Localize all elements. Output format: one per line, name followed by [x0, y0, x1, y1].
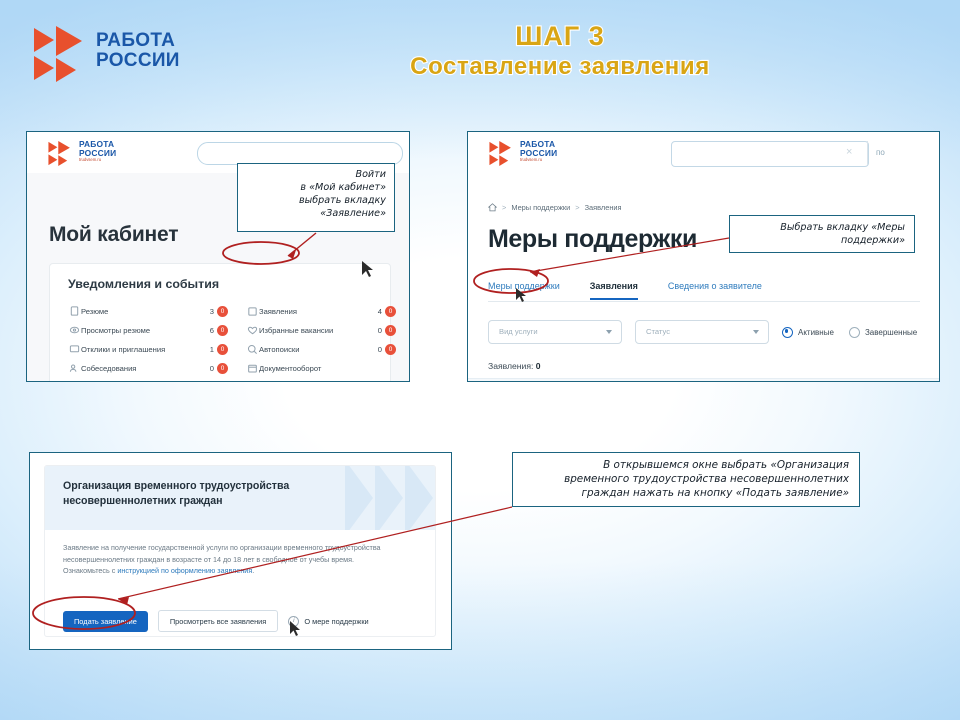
radio-active[interactable]: Активные [782, 327, 834, 338]
mini-brand-line-2: РОССИИ [79, 149, 116, 158]
rabota-rossii-triangles-icon [488, 141, 515, 166]
notification-right-label: Избранные вакансии [259, 326, 378, 335]
search-input[interactable] [197, 142, 403, 165]
radio-completed[interactable]: Завершенные [849, 327, 917, 338]
notifications-card: Уведомления и события Резюме30Просмотры … [49, 263, 391, 382]
slide-title: ШАГ 3 Составление заявления [280, 22, 840, 82]
screenshot-panel-service-card: Организация временного трудоустройства н… [29, 452, 452, 650]
callout1-line-0: Войти [244, 169, 386, 182]
notification-right-label: Документооборот [259, 364, 396, 373]
info-icon: i [288, 616, 299, 627]
mini-brand-logo: РАБОТА РОССИИ trudvsem.ru [47, 140, 157, 168]
callout1-line-3: «Заявление» [244, 208, 386, 221]
notification-right-count: 4 [378, 307, 382, 316]
notification-left-badge: 0 [217, 325, 228, 336]
radio-active-label: Активные [798, 328, 834, 337]
callout3-line-0: В открывшемся окне выбрать «Организация [522, 459, 849, 473]
notifications-left-column: Резюме30Просмотры резюме60Отклики и приг… [68, 302, 228, 378]
users-icon [68, 363, 81, 374]
notification-left-badge: 0 [217, 306, 228, 317]
notification-left-count: 6 [210, 326, 214, 335]
filter-bar: Вид услуги Статус Активные Завершенные [488, 320, 924, 344]
list-item[interactable]: Автопоиски00 [246, 340, 396, 359]
list-item[interactable]: Заявления40 [246, 302, 396, 321]
search-clock-icon [246, 344, 259, 355]
list-item[interactable]: Документооборот [246, 359, 396, 378]
callout3-line-2: граждан нажать на кнопку «Подать заявлен… [522, 487, 849, 501]
callout1-line-2: выбрать вкладку [244, 195, 386, 208]
applications-count-value: 0 [536, 361, 541, 371]
notification-right-label: Автопоиски [259, 345, 378, 354]
document-icon [68, 306, 81, 317]
radio-completed-label: Завершенные [865, 328, 917, 337]
tab-bar: Меры поддержкиЗаявленияСведения о заявит… [488, 281, 762, 300]
callout2-line-1: поддержки» [738, 235, 905, 248]
service-card-title: Организация временного трудоустройства н… [63, 479, 383, 510]
checkbox-icon [246, 306, 259, 317]
status-radio-group: Активные Завершенные [782, 327, 917, 338]
slide-title-line-2: Составление заявления [280, 52, 840, 82]
applications-count: Заявления: 0 [488, 361, 541, 371]
rabota-rossii-triangles-icon [32, 26, 90, 82]
list-item[interactable]: Отклики и приглашения10 [68, 340, 228, 359]
service-card-header: Организация временного трудоустройства н… [45, 466, 435, 530]
list-item[interactable]: Просмотры резюме60 [68, 321, 228, 340]
notification-right-count: 0 [378, 326, 382, 335]
callout2-line-0: Выбрать вкладку «Меры [738, 222, 905, 235]
description-paragraph-2-prefix: Ознакомьтесь с [63, 566, 117, 575]
notifications-right-column: Заявления40Избранные вакансии00Автопоиск… [246, 302, 396, 382]
callout-login-cabinet: Войти в «Мой кабинет» выбрать вкладку «З… [237, 163, 395, 232]
submit-application-button[interactable]: Подать заявление [63, 611, 148, 632]
callout1-line-1: в «Мой кабинет» [244, 182, 386, 195]
clear-search-icon[interactable]: × [846, 148, 855, 157]
slide-title-line-1: ШАГ 3 [280, 22, 840, 52]
notification-left-label: Отклики и приглашения [81, 345, 210, 354]
heart-icon [246, 325, 259, 336]
mini-brand-sub: trudvsem.ru [79, 158, 116, 162]
status-placeholder: Статус [646, 327, 670, 336]
notification-right-count: 0 [378, 345, 382, 354]
rabota-rossii-triangles-icon [47, 141, 74, 166]
applications-count-label: Заявления: [488, 361, 533, 371]
brand-logo: РАБОТА РОССИИ [24, 22, 224, 86]
breadcrumb-item-0[interactable]: Меры поддержки [511, 203, 570, 212]
mini-brand-logo: РАБОТА РОССИИ trudvsem.ru [488, 140, 598, 168]
tab-0[interactable]: Меры поддержки [488, 281, 560, 300]
service-type-select[interactable]: Вид услуги [488, 320, 622, 344]
chat-icon [68, 344, 81, 355]
service-type-placeholder: Вид услуги [499, 327, 538, 336]
list-item[interactable]: Жалобы и сообщения00 [246, 378, 396, 382]
about-support-measure-link[interactable]: i О мере поддержки [288, 616, 368, 627]
search-divider [867, 141, 868, 165]
service-card-description: Заявление на получение государственной у… [63, 542, 415, 577]
breadcrumb: > Меры поддержки > Заявления [488, 203, 622, 212]
notification-left-count: 1 [210, 345, 214, 354]
page-footer [468, 378, 939, 382]
screenshot-panel-support-measures: РАБОТА РОССИИ trudvsem.ru × по > Меры по… [467, 131, 940, 382]
chevron-down-icon [753, 330, 759, 334]
list-item[interactable]: Резюме30 [68, 302, 228, 321]
chevron-decoration-icon [405, 466, 433, 530]
chevron-down-icon [606, 330, 612, 334]
notification-left-label: Просмотры резюме [81, 326, 210, 335]
radio-completed-indicator [849, 327, 860, 338]
mini-brand-line-2: РОССИИ [520, 149, 557, 158]
mini-brand-sub: trudvsem.ru [520, 158, 557, 162]
notification-left-count: 3 [210, 307, 214, 316]
tab-underline [488, 301, 920, 302]
search-input[interactable] [671, 141, 869, 167]
home-icon[interactable] [488, 203, 497, 212]
notifications-title: Уведомления и события [68, 277, 219, 291]
callout-select-support-tab: Выбрать вкладку «Меры поддержки» [729, 215, 915, 253]
notification-left-badge: 0 [217, 363, 228, 374]
notification-left-count: 0 [210, 364, 214, 373]
list-item[interactable]: Собеседования00 [68, 359, 228, 378]
breadcrumb-separator: > [575, 203, 579, 212]
about-support-measure-label: О мере поддержки [304, 617, 368, 626]
tab-2[interactable]: Сведения о заявителе [668, 281, 762, 300]
eye-icon [68, 325, 81, 336]
panel2-body: > Меры поддержки > Заявления Меры поддер… [468, 173, 939, 381]
page-title: Мой кабинет [49, 223, 178, 247]
callout-submit-application: В открывшемся окне выбрать «Организация … [512, 452, 860, 507]
notification-right-badge: 0 [385, 344, 396, 355]
status-select[interactable]: Статус [635, 320, 769, 344]
view-all-applications-button[interactable]: Просмотреть все заявления [158, 610, 279, 632]
callout3-line-1: временного трудоустройства несовершеннол… [522, 473, 849, 487]
notification-right-badge: 0 [385, 306, 396, 317]
radio-active-indicator [782, 327, 793, 338]
list-item[interactable]: Избранные вакансии00 [246, 321, 396, 340]
notification-right-label: Заявления [259, 307, 378, 316]
instruction-link[interactable]: инструкцией по оформлению заявления [117, 566, 252, 575]
page-title: Меры поддержки [488, 225, 697, 254]
service-card-actions: Подать заявление Просмотреть все заявлен… [63, 610, 369, 632]
breadcrumb-separator: > [502, 203, 506, 212]
notification-left-label: Резюме [81, 307, 210, 316]
description-paragraph-2-suffix: . [252, 566, 254, 575]
brand-line-1: РАБОТА [96, 31, 180, 51]
service-card: Организация временного трудоустройства н… [44, 465, 436, 637]
notification-left-badge: 0 [217, 344, 228, 355]
site-header: РАБОТА РОССИИ trudvsem.ru × по [468, 132, 939, 174]
tab-1[interactable]: Заявления [590, 281, 638, 300]
brand-line-2: РОССИИ [96, 51, 180, 71]
notification-right-badge: 0 [385, 325, 396, 336]
notification-left-label: Собеседования [81, 364, 210, 373]
search-button[interactable]: по [876, 148, 885, 157]
description-paragraph-1: Заявление на получение государственной у… [63, 543, 381, 564]
breadcrumb-item-1[interactable]: Заявления [585, 203, 622, 212]
calendar-icon [246, 363, 259, 374]
